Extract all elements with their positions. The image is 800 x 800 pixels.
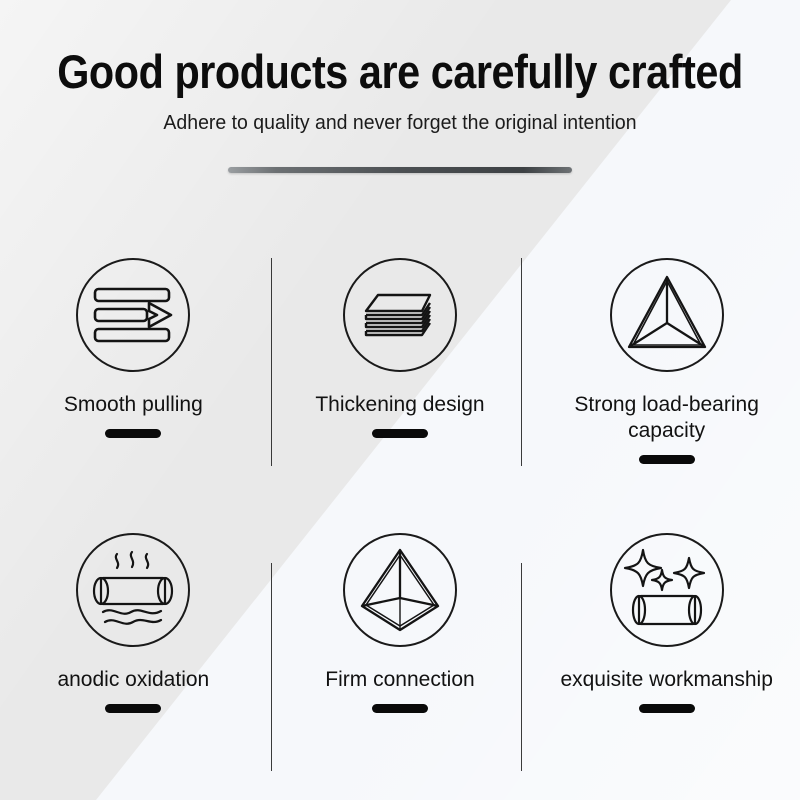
feature-cell: Firm connection	[267, 515, 534, 790]
sliding-bars-arrow-icon	[76, 258, 190, 372]
feature-label: Strong load-bearing capacity	[559, 392, 774, 444]
sparkling-cylinder-icon	[610, 533, 724, 647]
feature-label: Firm connection	[325, 667, 474, 693]
accent-divider-bar	[228, 167, 572, 173]
feature-label: Thickening design	[315, 392, 484, 418]
feature-underline	[639, 704, 695, 713]
feature-underline	[372, 429, 428, 438]
feature-cell: anodic oxidation	[0, 515, 267, 790]
feature-label: exquisite workmanship	[560, 667, 772, 693]
feature-underline	[372, 704, 428, 713]
promo-banner: Good products are carefully crafted Adhe…	[0, 0, 800, 800]
feature-cell: Thickening design	[267, 240, 534, 515]
feature-underline	[105, 429, 161, 438]
page-title: Good products are carefully crafted	[48, 44, 752, 100]
page-subtitle: Adhere to quality and never forget the o…	[20, 110, 780, 136]
square-pyramid-icon	[343, 533, 457, 647]
feature-cell: Smooth pulling	[0, 240, 267, 515]
feature-cell: Strong load-bearing capacity	[533, 240, 800, 515]
tetrahedron-top-view-icon	[610, 258, 724, 372]
heated-cylinder-icon	[76, 533, 190, 647]
feature-grid: Smooth pulling Thickening design	[0, 240, 800, 790]
feature-underline	[105, 704, 161, 713]
stacked-layers-icon	[343, 258, 457, 372]
feature-cell: exquisite workmanship	[533, 515, 800, 790]
header: Good products are carefully crafted Adhe…	[0, 44, 800, 136]
feature-underline	[639, 455, 695, 464]
feature-label: anodic oxidation	[57, 667, 209, 693]
feature-label: Smooth pulling	[64, 392, 203, 418]
